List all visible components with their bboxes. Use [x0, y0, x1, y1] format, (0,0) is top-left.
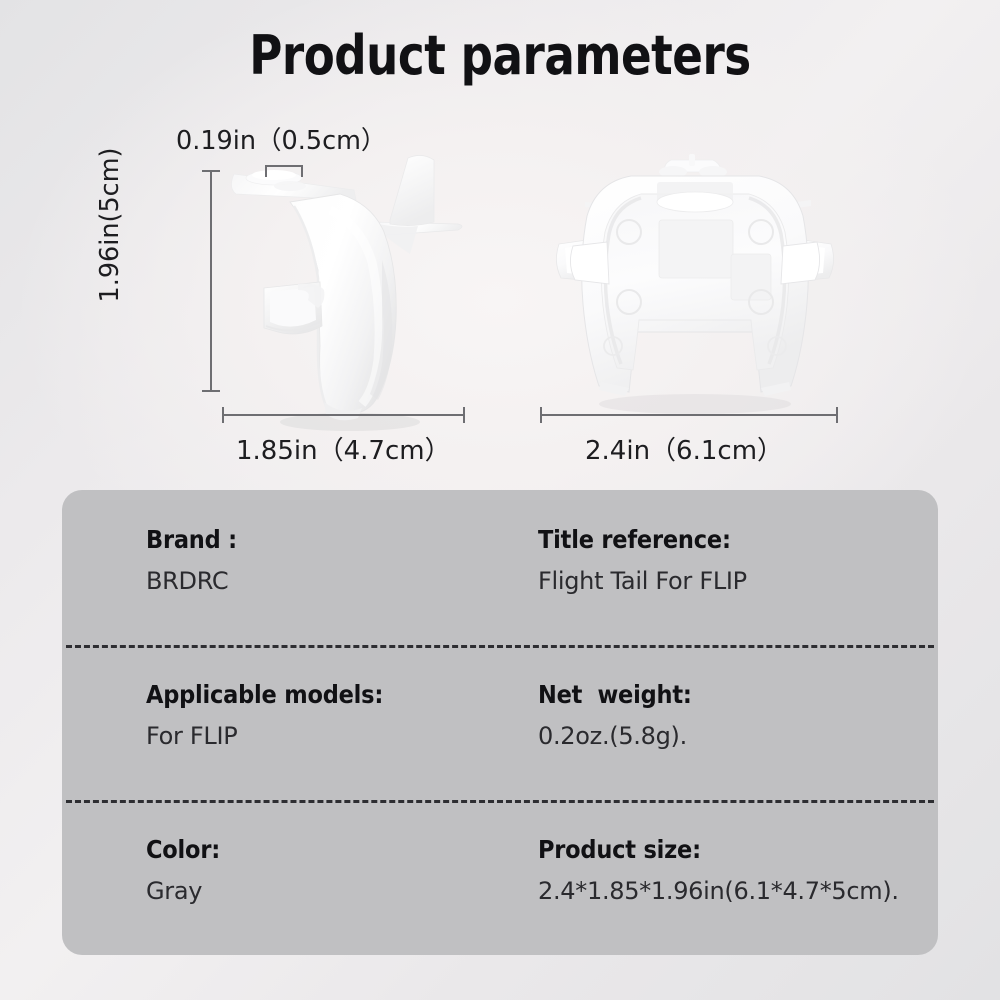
spec-key: Brand : [146, 526, 466, 554]
spec-cell-applicable-models: Applicable models: For FLIP [62, 645, 466, 800]
spec-key: Color: [146, 836, 466, 864]
spec-value: 2.4*1.85*1.96in(6.1*4.7*5cm). [538, 878, 938, 906]
spec-value: Flight Tail For FLIP [538, 568, 938, 596]
spec-key: Title reference: [538, 526, 938, 554]
dimension-line-vertical [210, 170, 212, 392]
spec-value: Gray [146, 878, 466, 906]
dimension-tick-right-width-end [836, 407, 838, 423]
dimension-label-left-width: 1.85in（4.7cm） [236, 430, 451, 467]
spec-row: Color: Gray Product size: 2.4*1.85*1.96i… [62, 800, 938, 955]
spec-cell-net-weight: Net weight: 0.2oz.(5.8g). [466, 645, 938, 800]
spec-value: For FLIP [146, 723, 466, 751]
dimension-label-height: 1.96in(5cm) [95, 105, 125, 345]
spec-row: Applicable models: For FLIP Net weight: … [62, 645, 938, 800]
dimension-label-right-width: 2.4in（6.1cm） [585, 430, 783, 467]
spec-cell-brand: Brand : BRDRC [62, 490, 466, 645]
specification-panel: Brand : BRDRC Title reference: Flight Ta… [62, 490, 938, 955]
spec-cell-product-size: Product size: 2.4*1.85*1.96in(6.1*4.7*5c… [466, 800, 938, 955]
dimension-cap-top [202, 170, 220, 172]
dimension-tick-thickness-right [301, 165, 303, 177]
spec-key: Net weight: [538, 681, 938, 709]
dimension-line-thickness [265, 165, 303, 167]
dimension-cap-bottom [202, 390, 220, 392]
spec-key: Applicable models: [146, 681, 466, 709]
flight-tail-side-view [222, 150, 472, 440]
dimension-tick-left-width-start [222, 407, 224, 423]
spec-value: BRDRC [146, 568, 466, 596]
dimension-tick-thickness-left [265, 165, 267, 177]
spec-row: Brand : BRDRC Title reference: Flight Ta… [62, 490, 938, 645]
spec-cell-color: Color: Gray [62, 800, 466, 955]
spec-cell-title-reference: Title reference: Flight Tail For FLIP [466, 490, 938, 645]
spec-value: 0.2oz.(5.8g). [538, 723, 938, 751]
dimension-line-left-width [222, 414, 465, 416]
product-image-area [0, 110, 1000, 470]
dimension-tick-right-width-start [540, 407, 542, 423]
product-parameters-page: Product parameters [0, 0, 1000, 1000]
dimension-line-right-width [540, 414, 838, 416]
flight-tail-interior-view [545, 154, 845, 424]
spec-key: Product size: [538, 836, 938, 864]
dimension-tick-left-width-end [463, 407, 465, 423]
page-title: Product parameters [35, 24, 965, 87]
dimension-label-thickness: 0.19in（0.5cm） [176, 120, 386, 157]
